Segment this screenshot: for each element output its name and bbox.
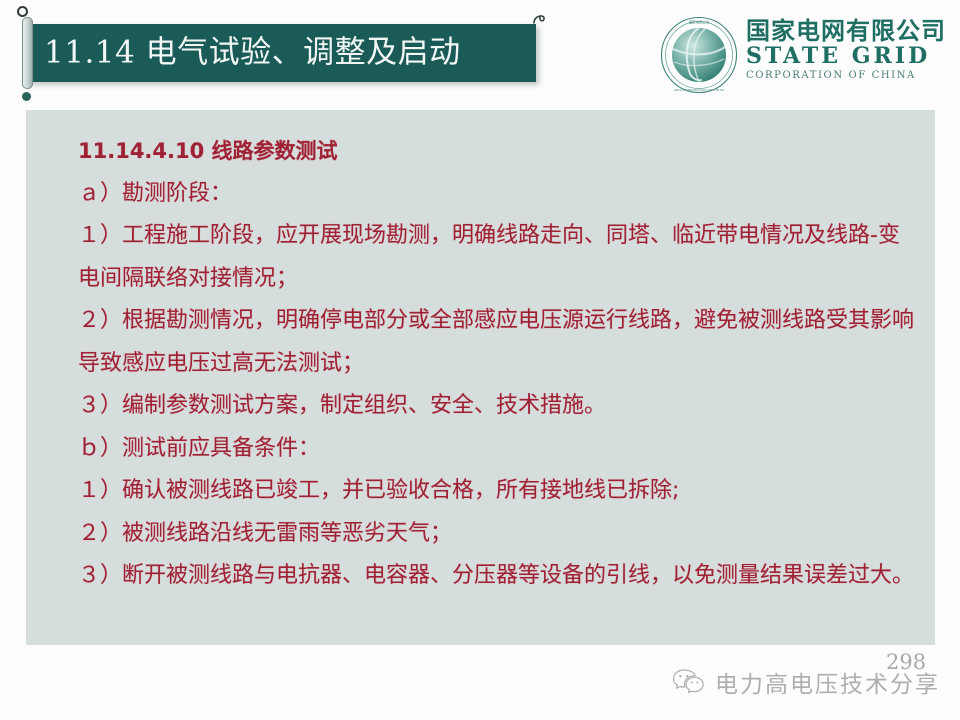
logo-wordmark: 国家电网有限公司 STATE GRID CORPORATION OF CHINA — [746, 18, 951, 82]
wechat-icon — [672, 668, 706, 696]
svg-text:国家电网公司: 国家电网公司 — [689, 20, 709, 25]
state-grid-logo: 国家电网公司 GRID CORPORATION OF CHINA 国家电网有限公… — [660, 12, 950, 94]
slide-canvas: 11.14 电气试验、调整及启动 — [0, 0, 960, 720]
slide-title-bar: 11.14 电气试验、调整及启动 — [28, 24, 536, 82]
content-line: １）工程施工阶段，应开展现场勘测，明确线路走向、同塔、临近带电情况及线路-变电间… — [78, 215, 921, 300]
pin-shaft-icon — [22, 17, 33, 89]
content-line: 11.14.4.10 线路参数测试 — [78, 130, 921, 173]
content-line: ａ）勘测阶段： — [78, 173, 921, 216]
watermark-text: 电力高电压技术分享 — [715, 665, 940, 699]
content-line: １）确认被测线路已竣工，并已验收合格，所有接地线已拆除; — [78, 470, 921, 513]
content-line: ｂ）测试前应具备条件： — [78, 428, 921, 471]
content-line: ３）断开被测线路与电抗器、电容器、分压器等设备的引线，以免测量结果误差过大。 — [78, 555, 921, 598]
panel-corner-dot-icon — [22, 92, 31, 101]
content-line: ２）被测线路沿线无雷雨等恶劣天气； — [78, 513, 921, 556]
state-grid-globe-emblem-icon: 国家电网公司 GRID CORPORATION OF CHINA — [660, 16, 738, 94]
logo-chinese-name: 国家电网有限公司 — [746, 18, 951, 44]
content-line: ３）编制参数测试方案，制定组织、安全、技术措施。 — [78, 385, 921, 428]
logo-english-name: STATE GRID — [746, 44, 951, 69]
svg-text:GRID CORPORATION OF CHINA: GRID CORPORATION OF CHINA — [674, 88, 725, 92]
curl-decoration-icon — [532, 10, 548, 26]
page-title: 11.14 电气试验、调整及启动 — [44, 38, 461, 69]
title-bar-background: 11.14 电气试验、调整及启动 — [28, 24, 536, 82]
watermark: 电力高电压技术分享 — [672, 662, 942, 702]
logo-english-subtitle: CORPORATION OF CHINA — [746, 70, 951, 82]
content-panel: 11.14.4.10 线路参数测试 ａ）勘测阶段： １）工程施工阶段，应开展现场… — [26, 110, 935, 645]
content-line: ２）根据勘测情况，明确停电部分或全部感应电压源运行线路，避免被测线路受其影响导致… — [78, 300, 921, 385]
content-text-block: 11.14.4.10 线路参数测试 ａ）勘测阶段： １）工程施工阶段，应开展现场… — [78, 130, 921, 598]
pin-head-icon — [17, 6, 28, 17]
